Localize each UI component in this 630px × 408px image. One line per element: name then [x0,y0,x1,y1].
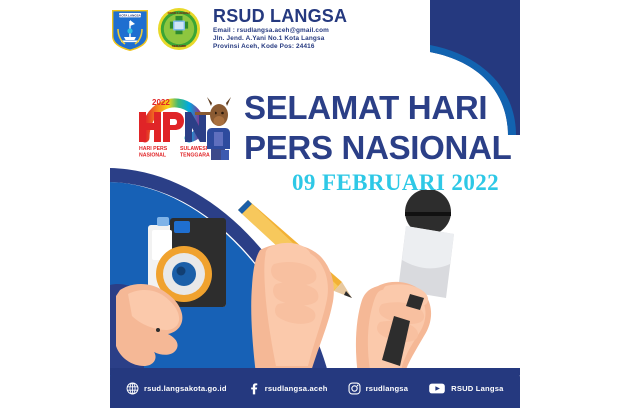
journalism-illustration-svg [110,190,520,375]
footer-item-instagram[interactable]: rsudlangsa [348,382,409,395]
shield-caption: KOTA LANGSA [119,13,141,17]
headline-line-1: SELAMAT HARI [244,88,524,128]
footer-item-facebook[interactable]: rsudlangsa.aceh [247,382,328,395]
instagram-icon [348,382,361,395]
journalism-illustration [110,190,520,375]
hpn-year: 2022 [152,98,170,107]
headline-line-2: PERS NASIONAL [244,128,524,168]
org-info-block: RSUD LANGSA Email : rsudlangsa.aceh@gmai… [213,7,347,52]
org-contact-address: Jln. Jend. A.Yani No.1 Kota Langsa [213,36,347,42]
hpn-subtitle-left-line1: HARI PERS [139,146,168,152]
header: KOTA LANGSA RSUD LANGSA SERAMBI RSUD LAN… [110,4,520,54]
hand-holding-camera [110,217,226,375]
footer-social-bar: rsud.langsakota.go.id rsudlangsa.aceh rs… [110,368,520,408]
footer-label-youtube: RSUD Langsa [451,384,503,393]
round-logo-caption-bottom: SERAMBI [172,44,186,48]
hpn-logo: 2022 HARI PERS NASIONAL SULAWESI TENGGAR… [133,88,238,163]
rsud-langsa-round-logo: RSUD LANGSA SERAMBI [157,7,201,51]
footer-item-youtube[interactable]: RSUD Langsa [428,382,503,395]
footer-label-instagram: rsudlangsa [366,384,409,393]
hpn-subtitle-left-line2: NASIONAL [139,153,167,159]
kota-langsa-shield-logo: KOTA LANGSA [110,7,150,52]
org-contact-email: Email : rsudlangsa.aceh@gmail.com [213,28,347,34]
poster-canvas: KOTA LANGSA RSUD LANGSA SERAMBI RSUD LAN… [0,0,630,408]
fist-holding-pencil [238,200,352,375]
hpn-subtitle-right-line2: TENGGARA [180,153,210,159]
org-title: RSUD LANGSA [213,7,347,25]
hpn-subtitle-right-line1: SULAWESI [180,146,208,152]
hpn-logo-svg: 2022 HARI PERS NASIONAL SULAWESI TENGGAR… [133,88,238,163]
footer-label-website: rsud.langsakota.go.id [144,384,227,393]
footer-label-facebook: rsudlangsa.aceh [265,384,328,393]
footer-item-website[interactable]: rsud.langsakota.go.id [126,382,227,395]
youtube-icon [428,382,446,395]
org-contact-province: Provinsi Aceh, Kode Pos: 24416 [213,44,347,50]
facebook-icon [247,382,260,395]
headline: SELAMAT HARI PERS NASIONAL [244,88,524,169]
round-logo-caption-top: RSUD LANGSA [168,11,191,15]
globe-icon [126,382,139,395]
hand-holding-microphone [356,190,454,375]
